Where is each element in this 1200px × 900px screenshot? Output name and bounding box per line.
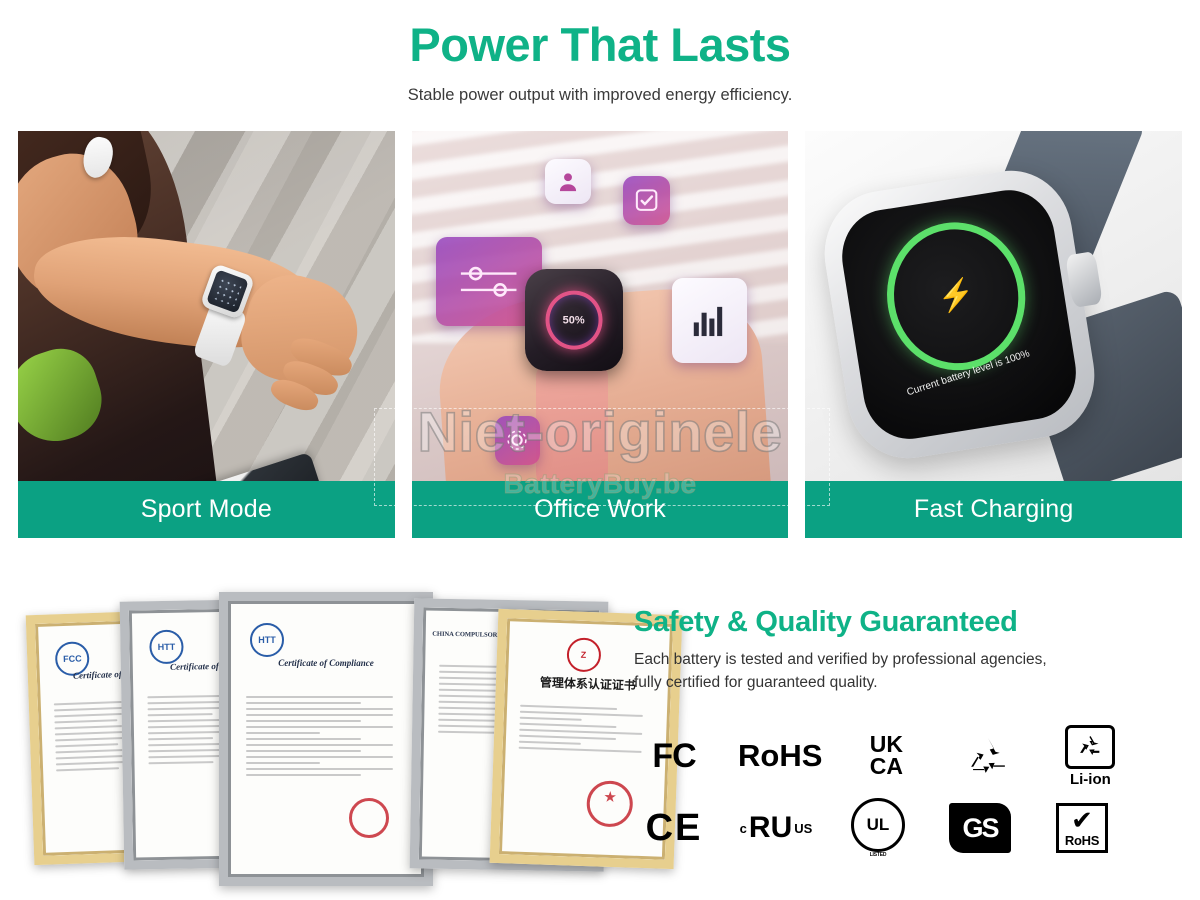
- safety-block: Safety & Quality Guaranteed Each battery…: [634, 606, 1186, 695]
- feature-card-fast-charging[interactable]: ⚡ Current battery level is 100% Fast Cha…: [805, 131, 1182, 538]
- badge-row-2: CE c RU US UL LISTED GS: [636, 792, 1136, 864]
- feature-card-sport-mode[interactable]: Sport Mode: [18, 131, 395, 538]
- htt-certificate-main[interactable]: HTT Certificate of Compliance: [219, 592, 433, 886]
- battery-ring: 50%: [545, 291, 602, 350]
- safety-description-line1: Each battery is tested and verified by p…: [634, 651, 1047, 668]
- safety-title: Safety & Quality Guaranteed: [634, 606, 1186, 639]
- marketing-page: Power That Lasts Stable power output wit…: [0, 0, 1200, 900]
- gs-badge: GS: [942, 800, 1018, 856]
- page-title: Power That Lasts: [0, 18, 1200, 72]
- ukca-badge: UK CA: [848, 728, 924, 784]
- rohs-badge: RoHS: [738, 728, 822, 784]
- sport-mode-photo: [18, 131, 395, 538]
- certificate-gallery: FCC Certificate of Compliance HTT Certif…: [14, 590, 624, 890]
- feature-caption-sport-mode: Sport Mode: [18, 481, 395, 538]
- seal-star-icon: ★: [590, 784, 631, 813]
- cn-cert-logo-icon: Z: [566, 637, 601, 672]
- safety-description-line2: fully certified for guaranteed quality.: [634, 674, 878, 691]
- checklist-tile: [623, 176, 670, 225]
- page-header: Power That Lasts Stable power output wit…: [0, 0, 1200, 105]
- feature-card-office-work[interactable]: 50% Office Work: [412, 131, 789, 538]
- recycle-badge: [950, 728, 1026, 784]
- ul-listed-badge: UL LISTED: [840, 800, 916, 856]
- contact-tile: [545, 159, 590, 204]
- li-ion-label: Li-ion: [1070, 771, 1111, 788]
- battery-ring-label: 50%: [563, 314, 585, 326]
- lightning-bolt-icon: ⚡: [936, 278, 978, 313]
- smartwatch-charging: ⚡ Current battery level is 100%: [816, 162, 1104, 466]
- li-ion-badge: Li-ion: [1052, 728, 1128, 784]
- badge-row-1: FC RoHS UK CA: [636, 720, 1136, 792]
- htt-logo-icon: HTT: [250, 623, 284, 657]
- certificate-title: Certificate of Compliance: [231, 658, 421, 668]
- fcc-badge: FC: [636, 728, 712, 784]
- office-work-photo: 50%: [412, 131, 789, 538]
- certification-section: FCC Certificate of Compliance HTT Certif…: [0, 590, 1200, 900]
- bar-chart-tile: [672, 278, 747, 363]
- smartwatch-office: 50%: [525, 269, 623, 371]
- htt-logo-icon: HTT: [149, 630, 184, 665]
- page-subtitle: Stable power output with improved energy…: [0, 86, 1200, 105]
- c-ul-us-badge: c RU US: [738, 800, 814, 856]
- feature-card-row: Sport Mode: [18, 131, 1182, 538]
- ce-badge: CE: [636, 800, 712, 856]
- feature-caption-fast-charging: Fast Charging: [805, 481, 1182, 538]
- check-icon: ✔: [1071, 809, 1093, 832]
- feature-caption-office-work: Office Work: [412, 481, 789, 538]
- certification-badges: FC RoHS UK CA: [636, 720, 1136, 864]
- gear-icon: [495, 416, 540, 465]
- rohs-check-badge: ✔ RoHS: [1044, 800, 1120, 856]
- certificate-seal: [349, 798, 389, 838]
- fast-charging-photo: ⚡ Current battery level is 100%: [805, 131, 1182, 538]
